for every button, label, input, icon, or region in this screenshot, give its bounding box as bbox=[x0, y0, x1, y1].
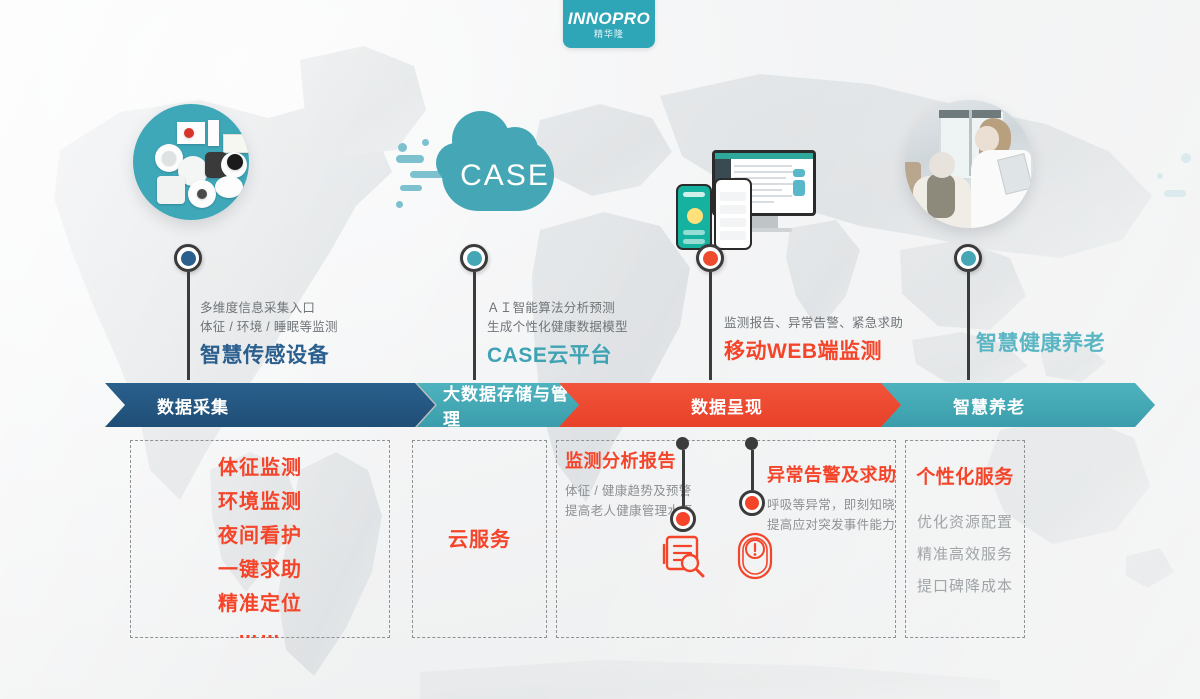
banner-label-present: 数据呈现 bbox=[691, 393, 763, 418]
column-3-title: 移动WEB端监测 bbox=[724, 337, 903, 367]
phone-list-screen bbox=[714, 178, 752, 250]
collect-ellipsis: …… bbox=[131, 621, 389, 644]
column-text-4: 智慧健康养老 bbox=[976, 329, 1105, 359]
cloud-label: CASE bbox=[456, 161, 554, 191]
present-right-line-2: 提高应对突发事件能力 bbox=[767, 515, 917, 535]
banner-arrow-care[interactable]: 智慧养老 bbox=[881, 383, 1155, 427]
care-item-1: 优化资源配置 bbox=[905, 507, 1025, 539]
banner-arrow-collect[interactable]: 数据采集 bbox=[105, 383, 435, 427]
case-cloud-graphic: CASE bbox=[396, 127, 554, 231]
pin-dot-3 bbox=[703, 251, 718, 266]
column-2-line-1: ＡＩ智能算法分析预测 bbox=[487, 299, 628, 318]
column-3-line-1: 监测报告、异常告警、紧急求助 bbox=[724, 314, 903, 333]
banner-arrow-storage[interactable]: 大数据存储与管理 bbox=[417, 383, 585, 427]
column-1-title: 智慧传感设备 bbox=[200, 341, 338, 371]
banner-label-collect: 数据采集 bbox=[157, 393, 229, 418]
column-text-2: ＡＩ智能算法分析预测 生成个性化健康数据模型 CASE云平台 bbox=[487, 299, 628, 371]
smart-sensor-devices-image bbox=[133, 104, 249, 220]
present-right-heading: 异常告警及求助 bbox=[767, 461, 917, 487]
column-text-1: 多维度信息采集入口 体征 / 环境 / 睡眠等监测 智慧传感设备 bbox=[200, 299, 338, 371]
present-left-heading: 监测分析报告 bbox=[565, 447, 725, 473]
process-arrow-banner: 数据采集 大数据存储与管理 数据呈现 智慧养老 bbox=[105, 383, 1155, 427]
column-4-title: 智慧健康养老 bbox=[976, 329, 1105, 359]
pin-marker-1 bbox=[174, 244, 202, 380]
logo-sub-text: 精华隆 bbox=[594, 30, 624, 39]
innopro-logo: INNOPRO 精华隆 bbox=[563, 0, 655, 48]
sos-alert-button-icon bbox=[735, 531, 775, 586]
column-2-title: CASE云平台 bbox=[487, 341, 628, 371]
logo-brand-text: INNOPRO bbox=[568, 10, 650, 27]
dashed-box-cloud: 云服务 bbox=[412, 440, 547, 638]
pin-dot-2 bbox=[467, 251, 482, 266]
present-left-line-1: 体征 / 健康趋势及预警 bbox=[565, 481, 725, 501]
care-heading: 个性化服务 bbox=[905, 462, 1025, 489]
present-left-pin bbox=[670, 437, 696, 532]
column-1-line-1: 多维度信息采集入口 bbox=[200, 299, 338, 318]
dashed-box-collection: 体征监测 环境监测 夜间看护 一键求助 精准定位 …… bbox=[130, 440, 390, 638]
collect-item-3: 夜间看护 bbox=[131, 519, 389, 553]
present-left-line-2: 提高老人健康管理水平 bbox=[565, 501, 725, 521]
dashed-box-presentation: 监测分析报告 体征 / 健康趋势及预警 提高老人健康管理水平 异常告警及求助 呼… bbox=[556, 440, 896, 638]
report-search-icon bbox=[661, 533, 707, 584]
banner-label-care: 智慧养老 bbox=[953, 393, 1025, 418]
present-right-pin bbox=[739, 437, 765, 516]
caregiver-elderly-image bbox=[905, 100, 1033, 228]
present-right-line-1: 呼吸等异常，即刻知晓 bbox=[767, 495, 917, 515]
collect-item-4: 一键求助 bbox=[131, 553, 389, 587]
column-2-line-2: 生成个性化健康数据模型 bbox=[487, 318, 628, 337]
collect-item-2: 环境监测 bbox=[131, 485, 389, 519]
pin-marker-2 bbox=[460, 244, 488, 380]
pin-marker-3 bbox=[696, 244, 724, 380]
column-1-line-2: 体征 / 环境 / 睡眠等监测 bbox=[200, 318, 338, 337]
pin-marker-4 bbox=[954, 244, 982, 380]
column-text-3: 监测报告、异常告警、紧急求助 移动WEB端监测 bbox=[724, 314, 903, 367]
cloud-service-item: 云服务 bbox=[413, 523, 546, 557]
collect-item-1: 体征监测 bbox=[131, 451, 389, 485]
banner-arrow-present[interactable]: 数据呈现 bbox=[559, 383, 907, 427]
phone-alert-screen bbox=[676, 184, 712, 250]
pin-dot-1 bbox=[181, 251, 196, 266]
care-item-3: 提口碑降成本 bbox=[905, 571, 1025, 603]
pin-dot-4 bbox=[961, 251, 976, 266]
infographic-canvas: INNOPRO 精华隆 CASE bbox=[0, 0, 1200, 699]
care-content: 个性化服务 优化资源配置 精准高效服务 提口碑降成本 bbox=[905, 462, 1025, 603]
care-item-2: 精准高效服务 bbox=[905, 539, 1025, 571]
mobile-web-devices-image bbox=[676, 150, 816, 250]
collect-item-5: 精准定位 bbox=[131, 587, 389, 621]
